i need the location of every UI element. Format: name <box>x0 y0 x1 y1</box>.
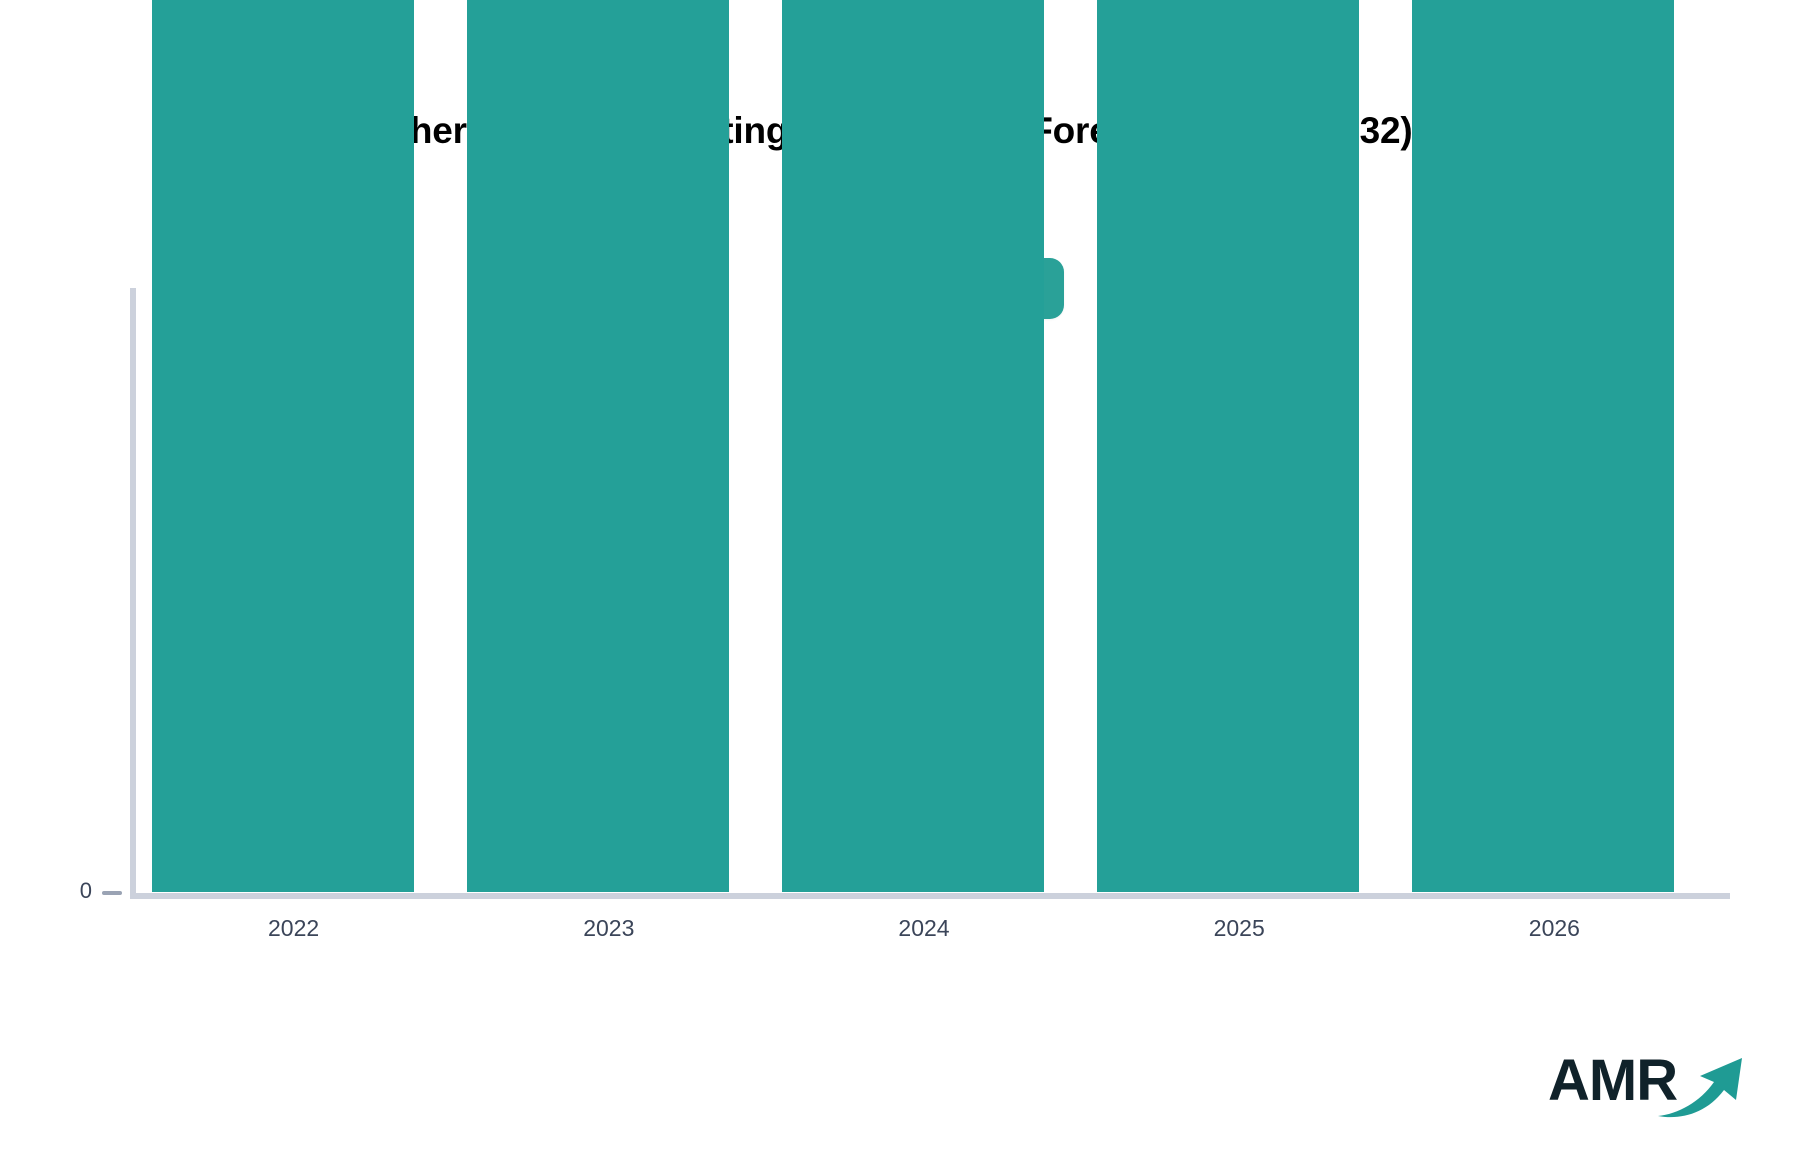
x-axis-tick-label: 2022 <box>214 915 374 942</box>
bar-side-face <box>1359 0 1381 892</box>
bar-side-face <box>1674 0 1696 892</box>
bar-front-face <box>152 0 414 892</box>
chart-canvas: Thermal Spray Coatings Market Size Forec… <box>0 0 1800 1156</box>
amr-logo: AMR <box>1548 1046 1748 1128</box>
bar-side-face <box>1044 0 1066 892</box>
x-axis-baseline <box>130 893 1730 899</box>
x-axis-tick-label: 2026 <box>1474 915 1634 942</box>
bar[interactable]: 8.200 M <box>1412 0 1674 892</box>
bar[interactable]: 6.300 M <box>467 0 729 892</box>
plot-area: 10.0M8.0M6.0M4.0M2.0M0 5.800 M6.300 M6.9… <box>0 0 1800 1156</box>
bar-front-face <box>1097 0 1359 892</box>
bar[interactable]: 7.500 M <box>1097 0 1359 892</box>
bar[interactable]: 6.900 M <box>782 0 1044 892</box>
bar-front-face <box>467 0 729 892</box>
bar-side-face <box>414 0 436 892</box>
y-axis-line <box>130 288 136 893</box>
x-axis-tick-label: 2025 <box>1159 915 1319 942</box>
x-axis-tick-label: 2024 <box>844 915 1004 942</box>
growth-arrow-icon <box>1656 1056 1748 1120</box>
bar-front-face <box>782 0 1044 892</box>
y-axis-tick-mark <box>102 891 122 895</box>
y-axis-tick-label: 0 <box>80 878 92 904</box>
bar[interactable]: 5.800 M <box>152 0 414 892</box>
x-axis-tick-label: 2023 <box>529 915 689 942</box>
bar-front-face <box>1412 0 1674 892</box>
bar-side-face <box>729 0 751 892</box>
